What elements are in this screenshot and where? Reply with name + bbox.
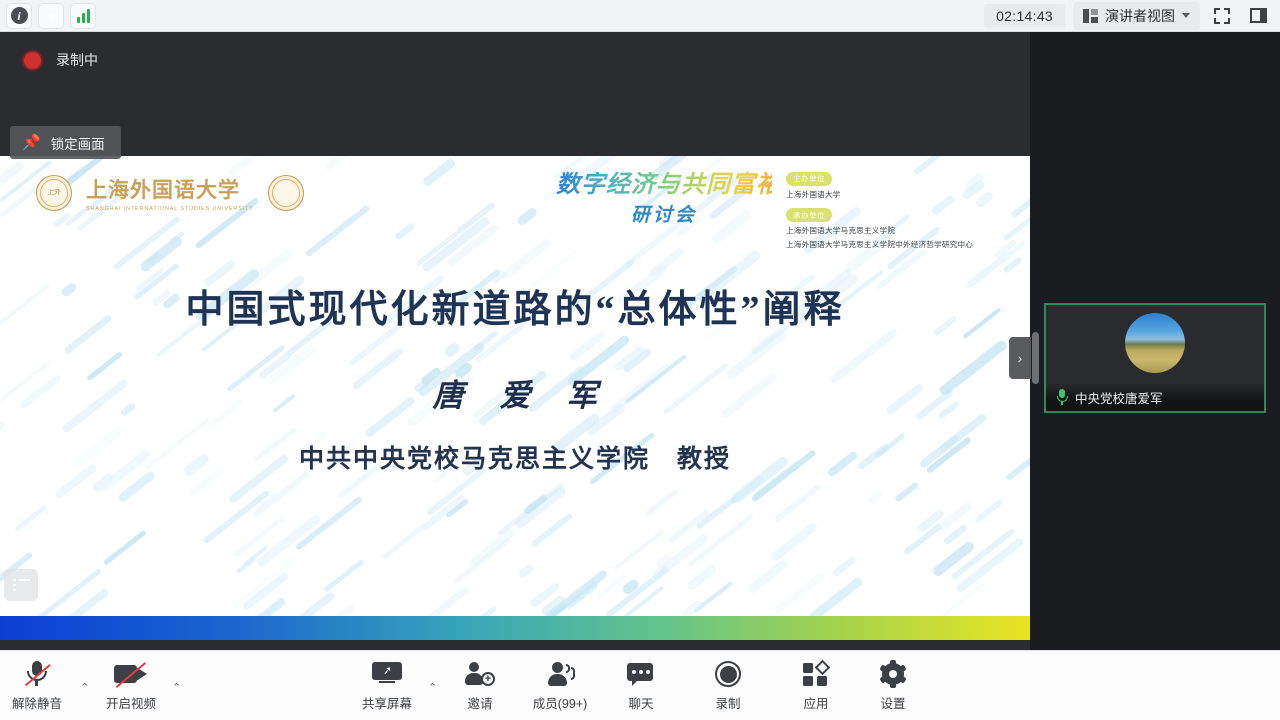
rail-collapse-handle[interactable]: ›: [1009, 337, 1031, 379]
security-shield-icon: +: [43, 7, 60, 25]
fullscreen-button[interactable]: [1208, 4, 1236, 28]
gear-icon: [880, 659, 906, 689]
university-name-block: 上海外国语大学 SHANGHAI INTERNATIONAL STUDIES U…: [86, 174, 254, 212]
shared-screen-slide: 上外 上海外国语大学 SHANGHAI INTERNATIONAL STUDIE…: [0, 156, 1030, 640]
slide-gradient-bar: [0, 616, 1030, 640]
pin-icon: 📌: [22, 135, 41, 150]
unmute-label: 解除静音: [12, 693, 62, 712]
university-name-cn: 上海外国语大学: [86, 174, 254, 204]
info-icon: i: [11, 7, 28, 24]
slide-main-title: 中国式现代化新道路的“总体性”阐释: [0, 278, 1030, 333]
coorganizer-2: 上海外国语大学马克思主义学院中外经济哲学研究中心: [786, 239, 1001, 250]
camera-off-icon: [114, 659, 148, 689]
university-logo-group: 上外 上海外国语大学 SHANGHAI INTERNATIONAL STUDIE…: [36, 174, 304, 212]
invite-label: 邀请: [467, 693, 492, 712]
fullscreen-icon: [1214, 8, 1230, 24]
conference-subtitle: 研讨会: [556, 200, 772, 227]
video-options-caret-icon[interactable]: ⌃: [172, 681, 181, 694]
chevron-down-icon: [1182, 13, 1190, 18]
chat-label: 聊天: [628, 693, 653, 712]
secondary-seal-icon: [268, 175, 304, 211]
share-screen-icon: ➚: [372, 659, 402, 689]
stage-list-button[interactable]: [4, 569, 38, 601]
participant-name: 中央党校唐爱军: [1075, 388, 1163, 407]
share-screen-label: 共享屏幕: [362, 693, 412, 712]
info-button[interactable]: i: [6, 3, 32, 29]
university-name-en: SHANGHAI INTERNATIONAL STUDIES UNIVERSIT…: [86, 206, 254, 212]
mic-off-icon: [25, 659, 49, 689]
members-button[interactable]: 成员(99+): [517, 659, 603, 712]
pin-tooltip-label: 锁定画面: [51, 133, 105, 153]
share-screen-button[interactable]: ➚ 共享屏幕: [344, 659, 430, 712]
top-bar-left-icons: i +: [0, 3, 96, 29]
video-tile-footer: 中央党校唐爱军: [1046, 383, 1264, 411]
recording-indicator: 录制中: [0, 32, 1030, 88]
host-organization: 上海外国语大学: [786, 189, 1001, 200]
coorganizer-1: 上海外国语大学马克思主义学院: [786, 225, 1001, 236]
invite-user-icon: +: [465, 659, 495, 689]
coorganizer-badge: 承办单位: [786, 208, 832, 222]
apps-label: 应用: [803, 693, 828, 712]
recording-label: 录制中: [56, 50, 98, 70]
apps-icon: [803, 659, 829, 689]
meeting-window: i + 02:14:43 演讲者视图: [0, 0, 1280, 720]
participant-video-tile[interactable]: 中央党校唐爱军: [1044, 303, 1266, 413]
mic-on-icon: [1056, 389, 1068, 405]
apps-button[interactable]: 应用: [773, 659, 859, 712]
share-options-caret-icon[interactable]: ⌃: [428, 681, 437, 694]
view-mode-label: 演讲者视图: [1105, 6, 1175, 26]
settings-label: 设置: [880, 693, 905, 712]
main-stage: 录制中 上外 上海外国语大学 SHANGHAI INTERNATIONAL ST…: [0, 32, 1030, 650]
host-badge: 主办单位: [786, 172, 832, 186]
avatar: [1125, 313, 1185, 373]
record-label: 录制: [715, 693, 740, 712]
record-button[interactable]: 录制: [685, 659, 771, 712]
slide-speaker-name: 唐 爱 军: [0, 370, 1030, 415]
organizers-block: 主办单位 上海外国语大学 承办单位 上海外国语大学马克思主义学院 上海外国语大学…: [786, 168, 1001, 250]
record-icon: [715, 659, 741, 689]
members-label: 成员(99+): [533, 693, 588, 712]
meeting-timer: 02:14:43: [984, 4, 1065, 28]
side-panel-icon: [1250, 8, 1267, 23]
seal-text: 上外: [43, 189, 65, 196]
network-status-button[interactable]: [70, 3, 96, 29]
view-mode-selector[interactable]: 演讲者视图: [1073, 2, 1200, 30]
start-video-button[interactable]: 开启视频: [88, 659, 174, 712]
conference-title: 数字经济与共同富裕: [556, 172, 772, 198]
university-seal-icon: 上外: [36, 175, 72, 211]
pin-screen-tooltip[interactable]: 📌 锁定画面: [10, 126, 121, 159]
top-bar: i + 02:14:43 演讲者视图: [0, 0, 1280, 32]
side-panel-toggle-button[interactable]: [1244, 4, 1272, 28]
top-bar-right-controls: 02:14:43 演讲者视图: [984, 2, 1280, 30]
network-signal-icon: [77, 8, 90, 23]
unmute-button[interactable]: 解除静音: [0, 659, 80, 712]
record-dot-icon: [22, 50, 43, 71]
speaker-view-icon: [1083, 9, 1098, 23]
invite-button[interactable]: + 邀请: [437, 659, 523, 712]
slide-speaker-affiliation: 中共中央党校马克思主义学院 教授: [0, 439, 1030, 475]
chat-icon: [627, 659, 655, 689]
security-button[interactable]: +: [38, 3, 64, 29]
settings-button[interactable]: 设置: [850, 659, 936, 712]
stage-scrollbar[interactable]: [1032, 332, 1039, 384]
start-video-label: 开启视频: [106, 693, 156, 712]
conference-logo: 数字经济与共同富裕 研讨会: [556, 172, 772, 227]
bottom-toolbar: 解除静音 ⌃ 开启视频 ⌃ ➚ 共享屏幕 ⌃ +: [0, 650, 1280, 720]
chat-button[interactable]: 聊天: [598, 659, 684, 712]
list-icon: [13, 579, 30, 591]
members-icon: [545, 659, 575, 689]
